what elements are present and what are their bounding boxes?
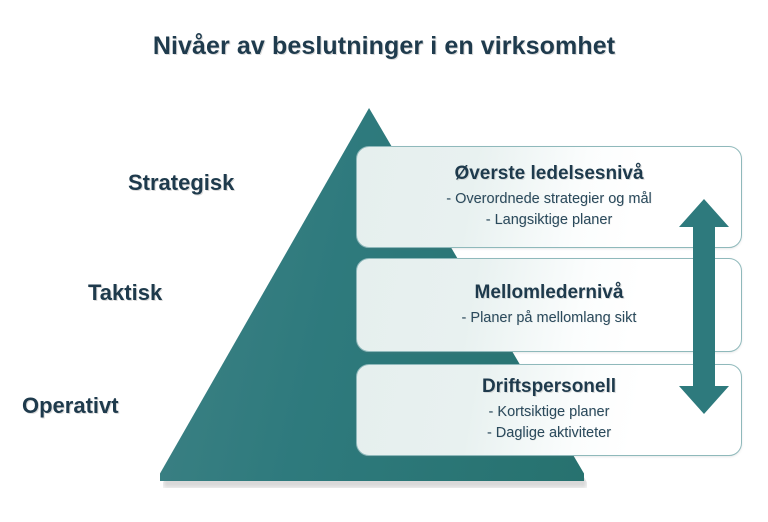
level-label-taktisk: Taktisk	[88, 280, 162, 306]
level-box-title: Mellomledernivå	[475, 281, 624, 305]
diagram-canvas: Nivåer av beslutninger i en virksomhet S…	[0, 0, 768, 522]
level-label-operativt: Operativt	[22, 393, 119, 419]
level-box-bullet: - Kortsiktige planer	[489, 402, 610, 424]
level-box-bullet: - Planer på mellomlang sikt	[462, 308, 637, 330]
level-box-bullet: - Overordnede strategier og mål	[446, 189, 652, 211]
level-box-bullet: - Daglige aktiviteter	[487, 423, 611, 445]
level-label-strategisk: Strategisk	[128, 170, 234, 196]
level-box-title: Driftspersonell	[482, 375, 616, 399]
double-arrow-vertical-icon	[679, 199, 729, 414]
diagram-title: Nivåer av beslutninger i en virksomhet	[0, 32, 768, 61]
level-box-bullet: - Langsiktige planer	[486, 210, 613, 232]
level-box-title: Øverste ledelsesnivå	[454, 162, 643, 186]
